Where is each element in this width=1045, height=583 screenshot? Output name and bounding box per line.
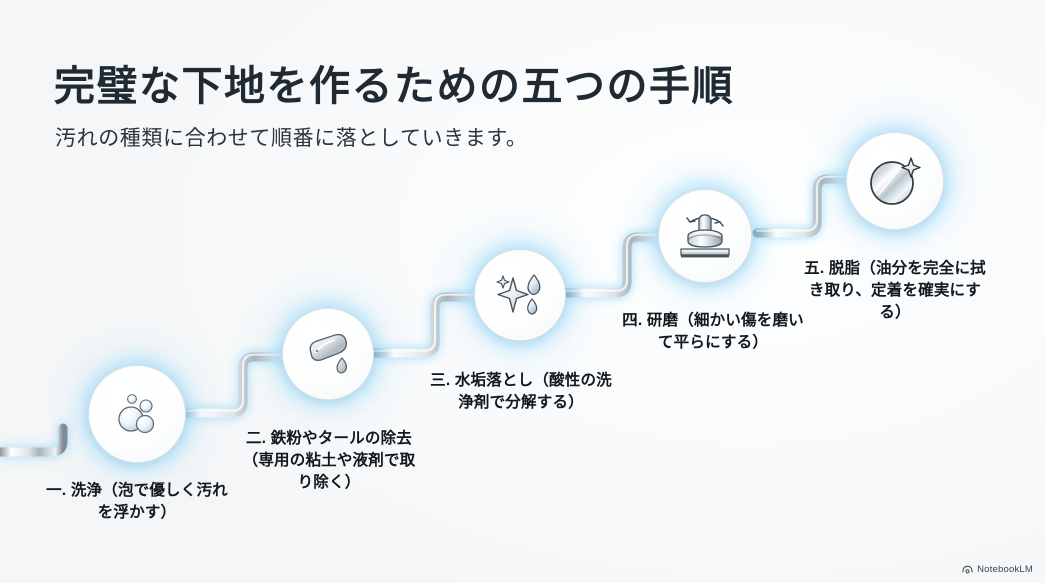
notebooklm-logo-icon [962, 564, 973, 575]
step-3-caption: 三. 水垢落とし（酸性の洗浄剤で分解する） [428, 370, 614, 414]
step-4-caption: 四. 研磨（細かい傷を磨いて平らにする） [620, 310, 806, 354]
step-2-node[interactable] [282, 308, 374, 400]
step-1-caption: 一. 洗浄（泡で優しく汚れを浮かす） [46, 480, 228, 524]
soap-bubbles-icon [110, 387, 164, 441]
step-5-caption: 五. 脱脂（油分を完全に拭き取り、定着を確実にする） [800, 258, 990, 324]
step-2-caption: 二. 鉄粉やタールの除去（専用の粘土や液剤で取り除く） [236, 428, 422, 494]
slide-canvas: 完璧な下地を作るための五つの手順 汚れの種類に合わせて順番に落としていきます。 [0, 0, 1045, 583]
notebooklm-watermark: NotebookLM [962, 564, 1033, 575]
step-3-node[interactable] [474, 249, 566, 341]
step-1-node[interactable] [88, 365, 186, 463]
step-4-node[interactable] [658, 189, 752, 283]
step-5-node[interactable] [846, 132, 944, 230]
page-subtitle: 汚れの種類に合わせて順番に落としていきます。 [55, 122, 527, 152]
rotary-polisher-icon [678, 211, 732, 261]
clay-bar-droplet-icon [302, 328, 354, 380]
polished-shine-surface-icon [867, 153, 923, 209]
page-title: 完璧な下地を作るための五つの手順 [54, 52, 734, 112]
sparkle-water-droplets-icon [494, 269, 546, 321]
notebooklm-label: NotebookLM [977, 564, 1033, 575]
